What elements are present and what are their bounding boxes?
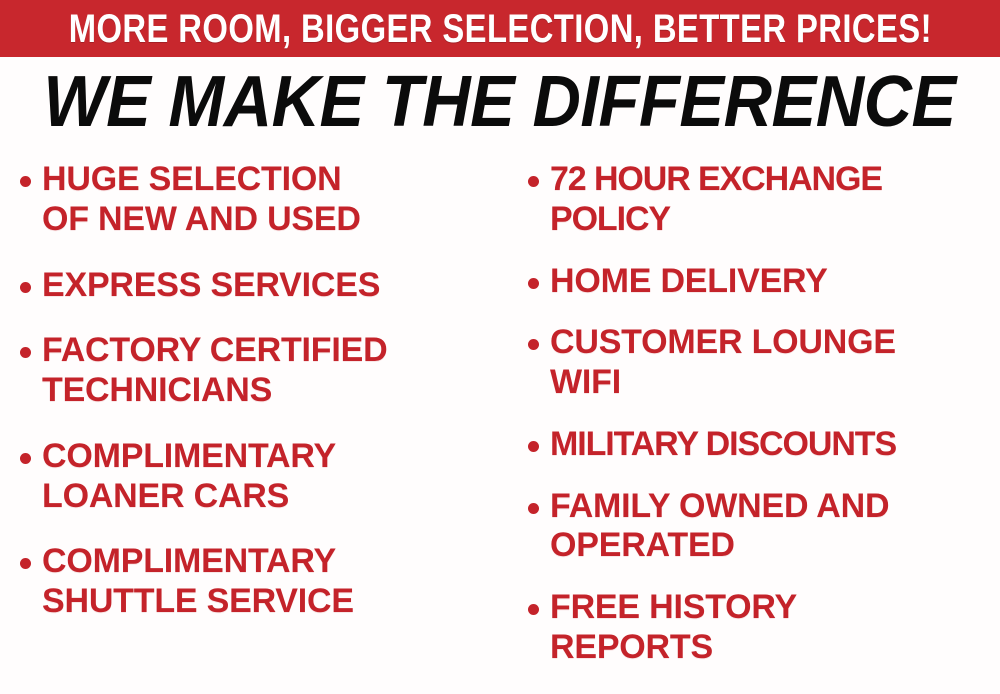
list-item: MILITARY DISCOUNTS <box>528 425 1000 465</box>
poster-root: { "banner": { "text": "MORE ROOM, BIGGER… <box>0 0 1000 694</box>
list-item-label: COMPLIMENTARY LOANER CARS <box>42 437 336 517</box>
bullet-dot-icon <box>528 339 539 350</box>
list-item: FACTORY CERTIFIED TECHNICIANS <box>20 331 505 411</box>
bullet-dot-icon <box>20 558 31 569</box>
bullet-dot-icon <box>20 176 31 187</box>
bullet-dot-icon <box>528 176 539 187</box>
list-item-label: MILITARY DISCOUNTS <box>550 425 896 465</box>
list-item-label: CUSTOMER LOUNGE WIFI <box>550 323 896 403</box>
list-item: EXPRESS SERVICES <box>20 266 505 306</box>
list-item: COMPLIMENTARY LOANER CARS <box>20 437 505 517</box>
list-item: FAMILY OWNED AND OPERATED <box>528 487 1000 567</box>
list-item-label: 72 HOUR EXCHANGE POLICY <box>550 160 882 240</box>
bullet-dot-icon <box>528 604 539 615</box>
bullet-dot-icon <box>528 503 539 514</box>
bullet-dot-icon <box>528 441 539 452</box>
list-item: HOME DELIVERY <box>528 262 1000 302</box>
list-item-label: FAMILY OWNED AND OPERATED <box>550 487 889 567</box>
promo-banner-text: MORE ROOM, BIGGER SELECTION, BETTER PRIC… <box>68 9 931 49</box>
list-item: FREE HISTORY REPORTS <box>528 588 1000 668</box>
list-item-label: HUGE SELECTION OF NEW AND USED <box>42 160 361 240</box>
list-item: 72 HOUR EXCHANGE POLICY <box>528 160 1000 240</box>
bullet-dot-icon <box>20 282 31 293</box>
page-title: WE MAKE THE DIFFERENCE <box>44 66 956 138</box>
list-item: CUSTOMER LOUNGE WIFI <box>528 323 1000 403</box>
list-item-label: COMPLIMENTARY SHUTTLE SERVICE <box>42 542 354 622</box>
list-item-label: FACTORY CERTIFIED TECHNICIANS <box>42 331 387 411</box>
bullet-dot-icon <box>528 278 539 289</box>
bullet-dot-icon <box>20 347 31 358</box>
headline-container: WE MAKE THE DIFFERENCE <box>0 62 1000 142</box>
benefits-column-right: 72 HOUR EXCHANGE POLICY HOME DELIVERY CU… <box>505 160 1000 680</box>
list-item-label: EXPRESS SERVICES <box>42 266 380 306</box>
list-item-label: FREE HISTORY REPORTS <box>550 588 797 668</box>
bullet-dot-icon <box>20 453 31 464</box>
list-item: HUGE SELECTION OF NEW AND USED <box>20 160 505 240</box>
promo-banner: MORE ROOM, BIGGER SELECTION, BETTER PRIC… <box>0 0 1000 57</box>
list-item-label: HOME DELIVERY <box>550 262 828 302</box>
benefits-columns: HUGE SELECTION OF NEW AND USED EXPRESS S… <box>0 160 1000 680</box>
list-item: COMPLIMENTARY SHUTTLE SERVICE <box>20 542 505 622</box>
benefits-column-left: HUGE SELECTION OF NEW AND USED EXPRESS S… <box>0 160 505 680</box>
